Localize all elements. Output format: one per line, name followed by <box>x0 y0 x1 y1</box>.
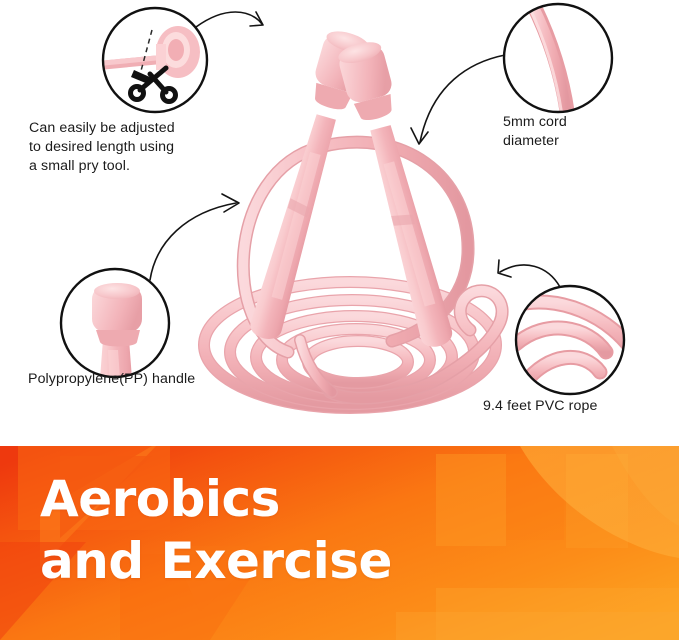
handle-material-caption: Polypropylene(PP) handle <box>28 370 258 389</box>
product-infographic: Can easily be adjusted to desired length… <box>0 0 679 640</box>
banner-headline: Aerobics and Exercise <box>40 468 392 592</box>
adjust-length-callout-circle <box>100 5 212 117</box>
cord-diameter-caption: 5mm cord diameter <box>503 113 653 151</box>
rope-length-caption: 9.4 feet PVC rope <box>483 397 679 416</box>
arrow-handle-to-product <box>150 203 236 280</box>
jump-rope-product <box>204 27 502 408</box>
cord-diameter-callout-circle <box>504 2 614 118</box>
product-image-area: Can easily be adjusted to desired length… <box>0 0 679 446</box>
arrow-cord-to-shaft <box>420 55 505 142</box>
aerobics-banner: Aerobics and Exercise <box>0 446 679 640</box>
arrow-adjust-to-handle <box>196 12 262 27</box>
rope-length-callout-circle <box>512 284 636 396</box>
adjust-length-caption: Can easily be adjusted to desired length… <box>29 119 229 176</box>
